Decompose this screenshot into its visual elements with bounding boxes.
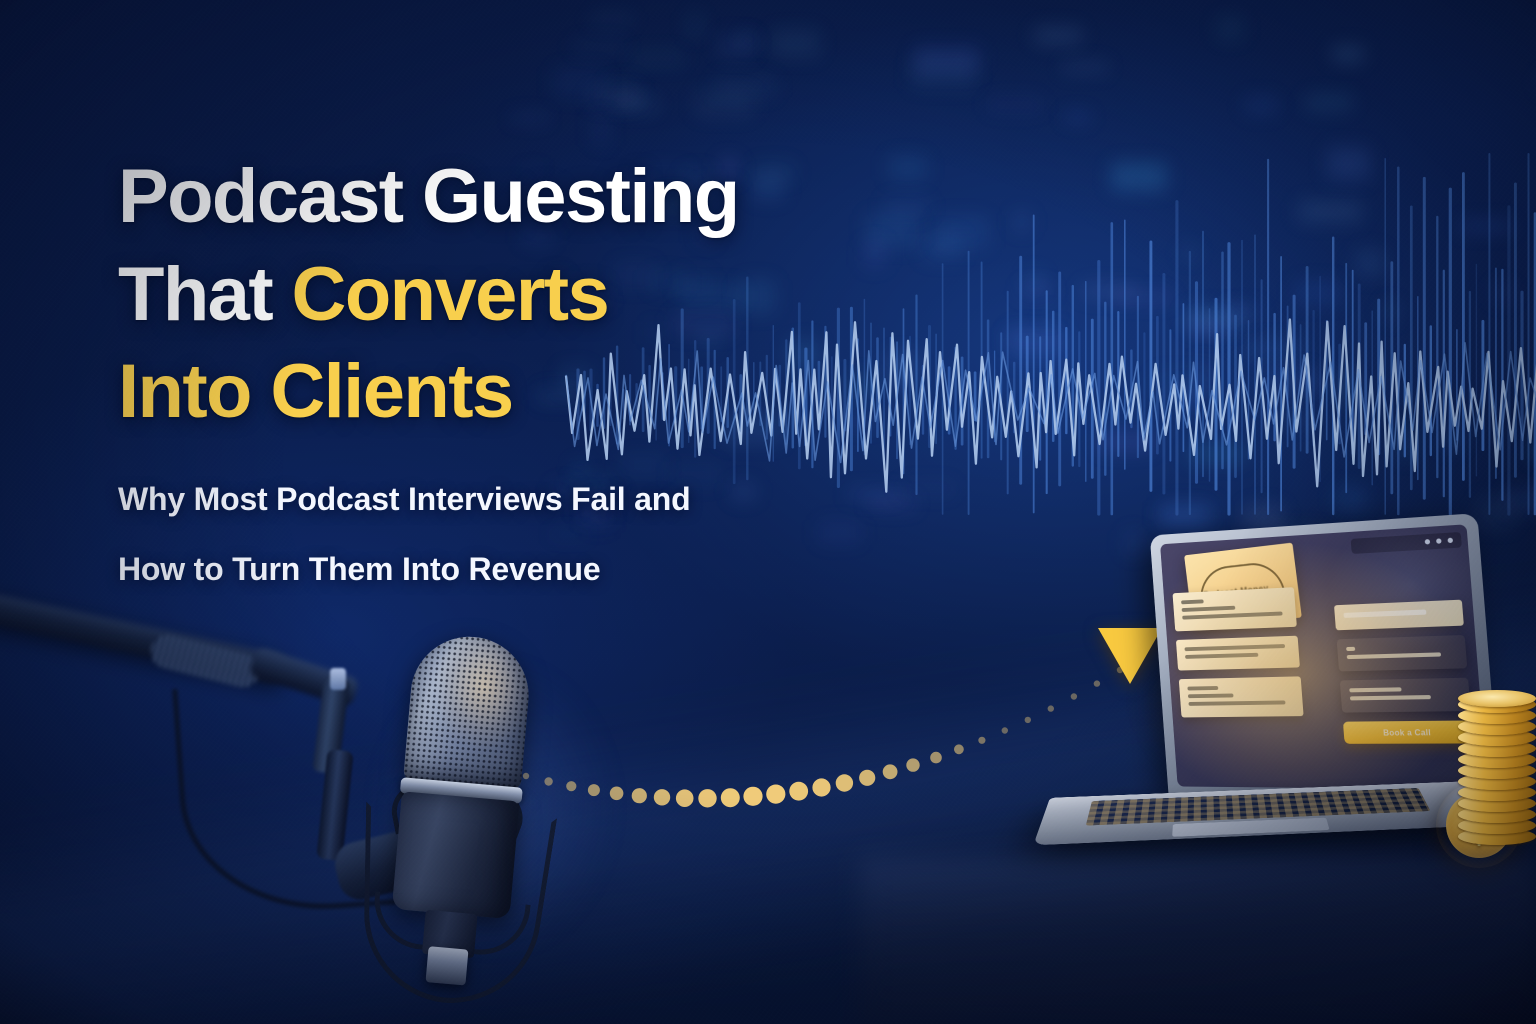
bokeh-rect — [770, 29, 820, 58]
bokeh-rect — [509, 112, 550, 125]
arrow-dot — [836, 774, 853, 791]
bokeh-rect — [986, 95, 1044, 116]
bokeh-rect — [1111, 162, 1167, 191]
bokeh-rect — [1460, 221, 1512, 232]
window-chrome-bar — [1351, 532, 1462, 554]
mockup-text-bar — [1182, 606, 1236, 612]
bokeh-rect — [1180, 246, 1199, 260]
arrow-dot — [906, 758, 919, 771]
arrow-dot — [654, 789, 670, 805]
bokeh-rect — [604, 77, 641, 105]
bokeh-rect — [630, 49, 685, 69]
mockup-text-bar — [1185, 653, 1258, 659]
mockup-text-bar — [1188, 693, 1234, 698]
bokeh-rect — [1034, 27, 1082, 44]
arrow-dot — [883, 764, 898, 779]
bokeh-rect — [1305, 94, 1353, 111]
arrow-dot — [721, 788, 740, 807]
bokeh-rect — [1151, 371, 1213, 401]
title-text-3: Into Clients — [118, 349, 513, 434]
mockup-text-bar — [1343, 609, 1426, 617]
bokeh-rect — [1027, 271, 1043, 288]
arrow-dot — [859, 770, 875, 786]
arrow-dot — [812, 778, 830, 796]
coin-stack-graphic: $ — [1440, 688, 1536, 888]
bokeh-rect — [1243, 340, 1303, 359]
arrow-dot — [978, 737, 985, 744]
bokeh-rect — [590, 112, 610, 147]
subtitle-line-1: Why Most Podcast Interviews Fail and — [118, 483, 948, 515]
mockup-text-bar — [1350, 695, 1431, 700]
title-text-2-gold: Converts — [292, 252, 609, 337]
bokeh-rect — [1008, 327, 1064, 361]
title-line-1: Podcast Guesting — [118, 158, 948, 236]
bokeh-rect — [1382, 302, 1399, 321]
bokeh-rect — [1531, 443, 1536, 459]
bokeh-rect — [1188, 444, 1245, 463]
bokeh-rect — [1186, 308, 1247, 327]
bokeh-rect — [1098, 433, 1153, 451]
bokeh-rect — [1030, 393, 1050, 416]
title-text-1: Podcast Guesting — [118, 154, 739, 239]
bokeh-rect — [1061, 61, 1109, 74]
arrow-dot — [930, 752, 942, 764]
bokeh-rect — [589, 11, 634, 28]
microphone-grille — [403, 632, 534, 792]
mockup-text-bar — [1188, 700, 1285, 705]
laptop-base — [1033, 781, 1494, 845]
arrow-dot — [676, 789, 694, 807]
arrow-dot — [954, 744, 964, 754]
title-text-2-white: That — [118, 252, 292, 337]
bokeh-rect — [1505, 488, 1536, 511]
mockup-text-bar — [1187, 686, 1218, 690]
arrow-dot — [698, 789, 716, 807]
bokeh-rect — [1442, 428, 1463, 449]
bokeh-rect — [1298, 201, 1362, 222]
coin-top-face — [1458, 690, 1536, 707]
bokeh-rect — [1339, 370, 1354, 403]
bokeh-rect — [1178, 385, 1198, 410]
bokeh-rect — [713, 74, 777, 98]
bokeh-rect — [1278, 415, 1312, 425]
mockup-card — [1176, 636, 1300, 671]
bokeh-rect — [1189, 319, 1229, 335]
arrow-dot — [789, 782, 808, 801]
bokeh-rect — [1003, 332, 1060, 344]
mockup-text-bar — [1182, 611, 1283, 619]
title-line-2: That Converts — [118, 256, 948, 334]
bokeh-rect — [740, 33, 757, 46]
bokeh-rect — [1294, 281, 1343, 305]
bokeh-rect — [1064, 112, 1091, 122]
subtitle-line-2: How to Turn Them Into Revenue — [118, 553, 948, 585]
microphone-graphic — [0, 600, 640, 1024]
bokeh-rect — [1014, 211, 1030, 232]
mockup-text-bar — [1347, 652, 1441, 659]
bokeh-rect — [1244, 96, 1278, 115]
bokeh-rect — [914, 46, 980, 73]
mockup-dark-field — [1337, 635, 1468, 671]
microphone-body — [363, 630, 594, 1006]
bokeh-rect — [1159, 500, 1217, 526]
mockup-card — [1179, 676, 1304, 717]
bokeh-rect — [1020, 284, 1052, 297]
bokeh-rect — [1113, 293, 1173, 303]
arrow-dot — [766, 785, 785, 804]
bokeh-rect — [1194, 358, 1211, 393]
mockup-left-column — [1172, 587, 1304, 726]
mockup-text-bar — [1346, 647, 1355, 651]
bokeh-rect — [1265, 369, 1319, 394]
banner-canvas: Podcast Money Book a Call $ Podcast Gues… — [0, 0, 1536, 1024]
window-dot-3 — [1447, 538, 1453, 543]
mockup-text-bar — [1184, 644, 1285, 651]
boom-tip-highlight — [330, 668, 346, 690]
mockup-text-bar — [1349, 687, 1401, 692]
bokeh-rect — [616, 96, 657, 111]
bokeh-rect — [1355, 249, 1386, 277]
bokeh-rect — [1223, 304, 1262, 316]
bokeh-rect — [1041, 309, 1056, 322]
window-dot-1 — [1425, 539, 1431, 544]
mockup-input-field — [1334, 600, 1464, 631]
microphone-plug — [426, 946, 469, 985]
subtitle-block: Why Most Podcast Interviews Fail and How… — [118, 483, 948, 585]
bokeh-rect — [588, 88, 642, 108]
laptop-screen: Podcast Money Book a Call — [1160, 524, 1487, 789]
bokeh-rect — [1216, 16, 1245, 40]
title-line-3: Into Clients — [118, 353, 948, 431]
arrow-dot — [743, 787, 762, 806]
bokeh-rect — [1335, 486, 1367, 511]
bokeh-rect — [694, 89, 753, 118]
headline-block: Podcast Guesting That Converts Into Clie… — [118, 158, 948, 585]
window-dot-2 — [1436, 538, 1442, 543]
bokeh-rect — [1081, 285, 1138, 297]
bokeh-rect — [686, 12, 704, 40]
bokeh-rect — [718, 33, 755, 59]
mockup-card — [1172, 587, 1296, 631]
bokeh-rect — [552, 66, 606, 99]
bokeh-rect — [1491, 283, 1514, 302]
bokeh-rect — [910, 56, 976, 89]
arrow-dot — [1002, 727, 1008, 733]
laptop-graphic: Podcast Money Book a Call — [1028, 524, 1498, 896]
bokeh-rect — [1332, 46, 1364, 62]
bokeh-rect — [1327, 147, 1370, 180]
bokeh-rect — [571, 37, 628, 56]
bokeh-rect — [1398, 427, 1412, 460]
mockup-text-bar — [1181, 599, 1204, 604]
